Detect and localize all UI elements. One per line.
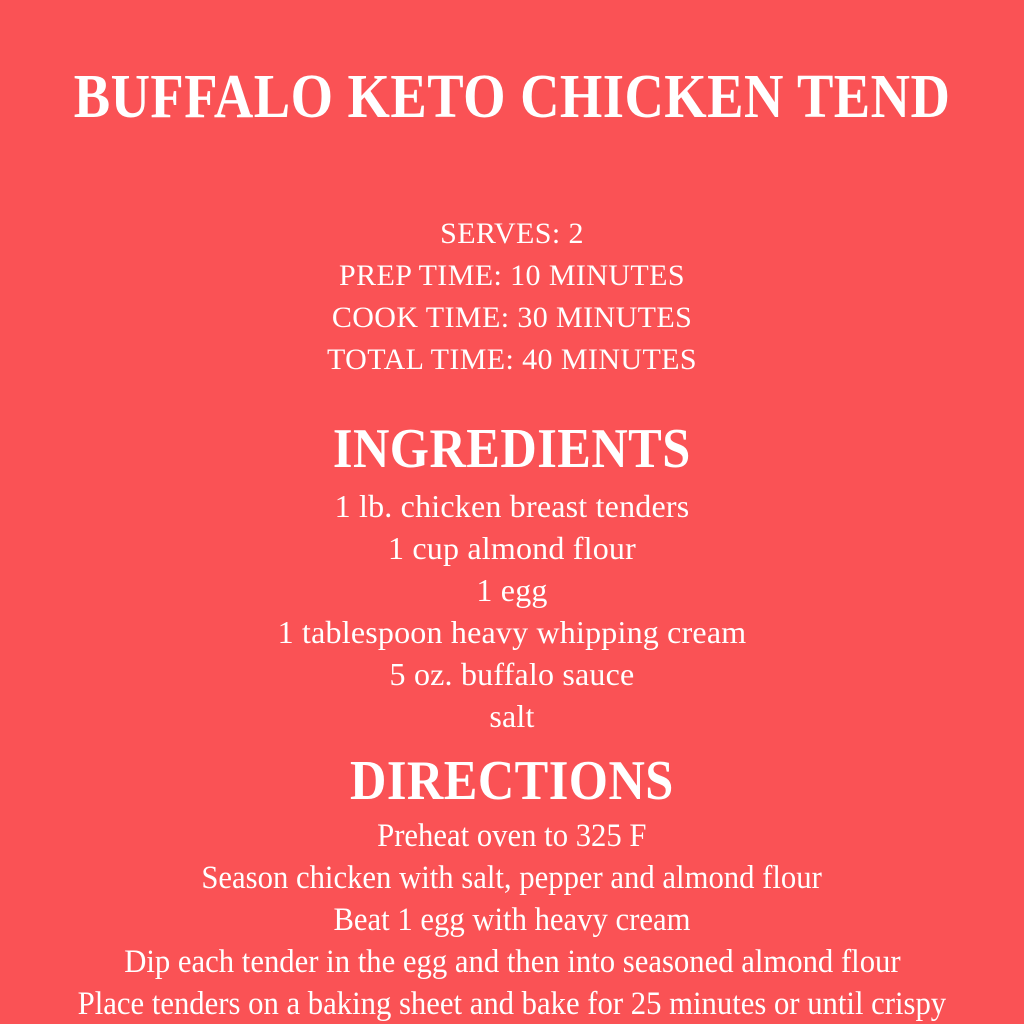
ingredients-list: 1 lb. chicken breast tenders 1 cup almon… [16, 485, 1008, 737]
meta-prep-time: PREP TIME: 10 MINUTES [339, 255, 685, 297]
list-item: Season chicken with salt, pepper and alm… [202, 857, 822, 899]
meta-cook-time: COOK TIME: 30 MINUTES [332, 297, 692, 339]
list-item: 1 lb. chicken breast tenders [335, 485, 690, 527]
recipe-title: BUFFALO KETO CHICKEN TEND [74, 66, 951, 129]
list-item: salt [489, 695, 534, 737]
directions-list: Preheat oven to 325 F Season chicken wit… [16, 815, 1008, 1025]
list-item: 1 tablespoon heavy whipping cream [278, 611, 747, 653]
meta-total-time: TOTAL TIME: 40 MINUTES [327, 339, 697, 381]
list-item: 1 egg [476, 569, 547, 611]
list-item: Beat 1 egg with heavy cream [333, 899, 690, 941]
directions-heading: DIRECTIONS [350, 753, 674, 809]
recipe-meta-block: SERVES: 2 PREP TIME: 10 MINUTES COOK TIM… [327, 213, 697, 381]
list-item: Preheat oven to 325 F [377, 815, 646, 857]
recipe-card: BUFFALO KETO CHICKEN TEND SERVES: 2 PREP… [0, 0, 1024, 1024]
list-item: Dip each tender in the egg and then into… [124, 941, 900, 983]
ingredients-heading: INGREDIENTS [333, 421, 691, 477]
meta-serves: SERVES: 2 [440, 213, 584, 255]
list-item: 5 oz. buffalo sauce [390, 653, 635, 695]
list-item: Place tenders on a baking sheet and bake… [78, 983, 946, 1025]
list-item: 1 cup almond flour [388, 527, 636, 569]
